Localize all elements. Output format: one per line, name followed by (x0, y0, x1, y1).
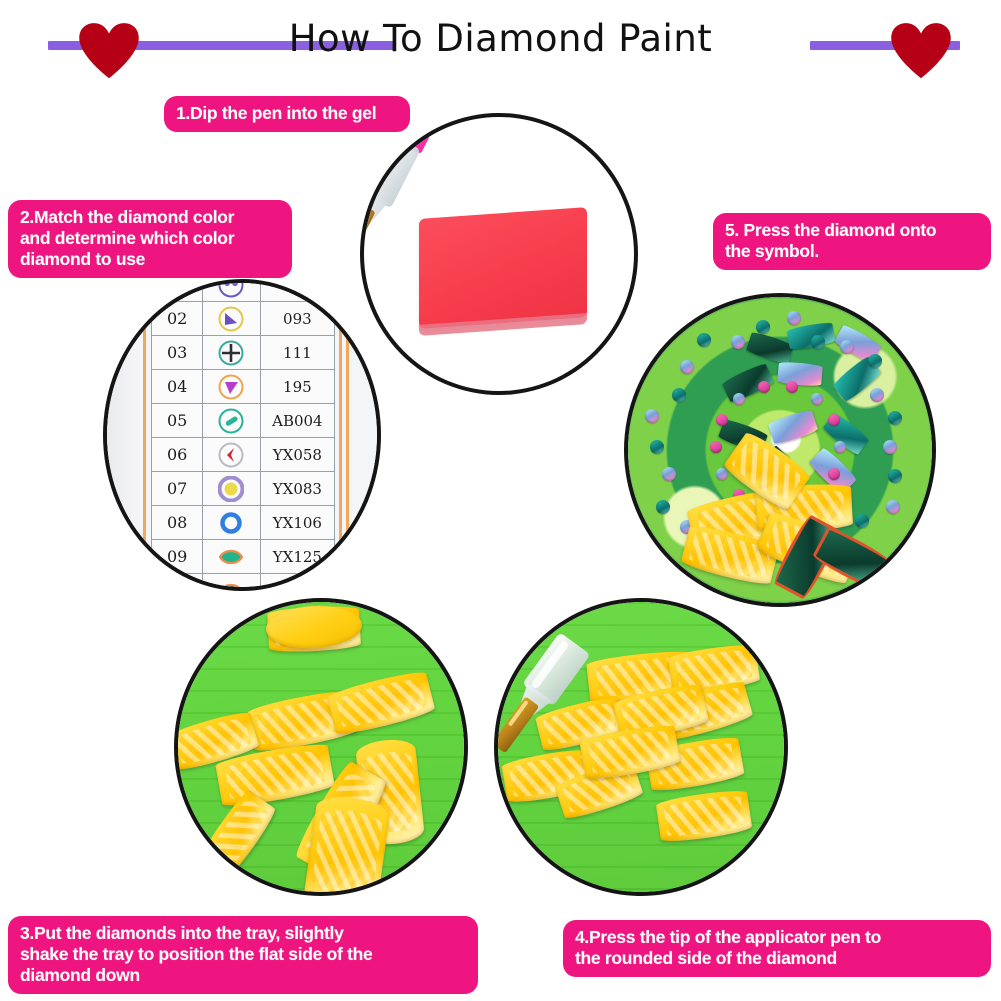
step-4-label: 4.Press the tip of the applicator pen to… (563, 920, 991, 977)
step-3-label: 3.Put the diamonds into the tray, slight… (8, 916, 478, 994)
chart-orange-rule (339, 283, 342, 587)
step-4-photo-circle (494, 598, 788, 896)
rhinestone-round (868, 354, 882, 368)
plus-cross-icon (218, 340, 244, 366)
chart-cell-no: 08 (152, 506, 203, 540)
step-3-photo-circle (174, 598, 468, 896)
step-1-line-1: 1.Dip the pen into the gel (176, 103, 398, 124)
step-3-line-3: diamond down (20, 965, 466, 986)
rhinestone-round (710, 441, 722, 453)
triangle-flag-icon (218, 306, 244, 332)
chart-cell-symbol (203, 438, 261, 472)
open-ring-icon (218, 510, 244, 536)
chart-cell-code: 195 (260, 370, 334, 404)
chart-cell-code: YX058 (260, 438, 334, 472)
color-chart-table: 0102002093031110419505AB00406YX05807YX08… (151, 283, 335, 587)
chart-cell-no: 07 (152, 472, 203, 506)
chart-cell-code: AB004 (260, 404, 334, 438)
chart-row: 04195 (152, 370, 335, 404)
step-2-line-2: and determine which color (20, 228, 280, 249)
rhinestone-round (787, 311, 801, 325)
step-2-line-3: diamond to use (20, 249, 280, 270)
chart-row: 08YX106 (152, 506, 335, 540)
chart-cell-symbol (203, 540, 261, 574)
chart-row: 03111 (152, 336, 335, 370)
canvas-edge (107, 283, 141, 587)
pen-pink-ring (652, 297, 691, 319)
infographic-canvas: How To Diamond Paint 1.Dip the pen into … (0, 0, 1001, 1001)
chart-cell-no: 09 (152, 540, 203, 574)
double-dot-circle-icon (218, 283, 244, 298)
header: How To Diamond Paint (0, 0, 1001, 80)
step-5-label: 5. Press the diamond onto the symbol. (713, 213, 991, 270)
step-1-photo-circle (360, 113, 638, 395)
chart-cell-no: 06 (152, 438, 203, 472)
filled-dot-icon (218, 476, 244, 502)
chart-cell-no: 01 (152, 283, 203, 302)
chart-orange-rule (143, 283, 146, 587)
chart-row: 10 (152, 574, 335, 588)
step-5-photo-circle (624, 293, 936, 607)
page-title: How To Diamond Paint (0, 17, 1001, 60)
step-3-line-1: 3.Put the diamonds into the tray, slight… (20, 923, 466, 944)
step-4-line-2: the rounded side of the diamond (575, 948, 979, 969)
chart-cell-no: 10 (152, 574, 203, 588)
chart-orange-rule (346, 283, 349, 587)
chart-cell-code (260, 574, 334, 588)
rhinestone-round (786, 381, 798, 393)
step-3-line-2: shake the tray to position the flat side… (20, 944, 466, 965)
step-5-line-2: the symbol. (725, 241, 979, 262)
chart-cell-code: YX106 (260, 506, 334, 540)
chart-cell-symbol (203, 404, 261, 438)
diamond-drill (303, 793, 392, 892)
rhinestone-round (828, 468, 840, 480)
rhinestone-round (645, 409, 659, 423)
rhinestone-round (758, 381, 770, 393)
chart-cell-symbol (203, 506, 261, 540)
chart-cell-code: YX125 (260, 540, 334, 574)
chart-cell-no: 04 (152, 370, 203, 404)
step-2-label: 2.Match the diamond color and determine … (8, 200, 292, 278)
leaf-marquise-icon (218, 578, 244, 588)
chart-row: 09YX125 (152, 540, 335, 574)
chart-row: 01020 (152, 283, 335, 302)
rhinestone-round (662, 467, 676, 481)
chart-cell-code: 093 (260, 302, 334, 336)
chart-cell-no: 03 (152, 336, 203, 370)
triangle-down-icon (218, 374, 244, 400)
chart-cell-symbol (203, 336, 261, 370)
chart-row: 07YX083 (152, 472, 335, 506)
step-2-photo-circle: 0102002093031110419505AB00406YX05807YX08… (103, 279, 381, 591)
rhinestone-marquise (777, 361, 823, 387)
step-5-line-1: 5. Press the diamond onto (725, 220, 979, 241)
rhinestone-round (650, 440, 664, 454)
chart-row: 05AB004 (152, 404, 335, 438)
slanted-bar-icon (218, 408, 244, 434)
chart-cell-symbol (203, 370, 261, 404)
chart-row: 02093 (152, 302, 335, 336)
step-2-line-1: 2.Match the diamond color (20, 207, 280, 228)
rhinestone-round (811, 335, 825, 349)
left-chevron-icon (218, 442, 244, 468)
chart-cell-no: 02 (152, 302, 203, 336)
step-1-label: 1.Dip the pen into the gel (164, 96, 410, 132)
rhinestone-round (811, 393, 823, 405)
chart-cell-symbol (203, 574, 261, 588)
chart-cell-code: YX083 (260, 472, 334, 506)
red-gel-pad (419, 207, 587, 329)
rhinestone-round (828, 414, 840, 426)
chart-cell-symbol (203, 283, 261, 302)
chart-cell-code: 111 (260, 336, 334, 370)
chart-cell-symbol (203, 302, 261, 336)
chart-row: 06YX058 (152, 438, 335, 472)
step-4-line-1: 4.Press the tip of the applicator pen to (575, 927, 979, 948)
pen-tip (628, 363, 635, 413)
rhinestone-round (883, 440, 897, 454)
rhinestone-round (834, 441, 846, 453)
rhinestone-round (672, 388, 686, 402)
leaf-marquise-icon (218, 544, 244, 570)
rhinestone-round (733, 393, 745, 405)
pen-tip (498, 696, 539, 753)
rhinestone-round (855, 514, 869, 528)
chart-cell-no: 05 (152, 404, 203, 438)
rhinestone-round (870, 388, 884, 402)
rhinestone-round (716, 468, 728, 480)
chart-cell-symbol (203, 472, 261, 506)
chart-cell-code: 020 (260, 283, 334, 302)
